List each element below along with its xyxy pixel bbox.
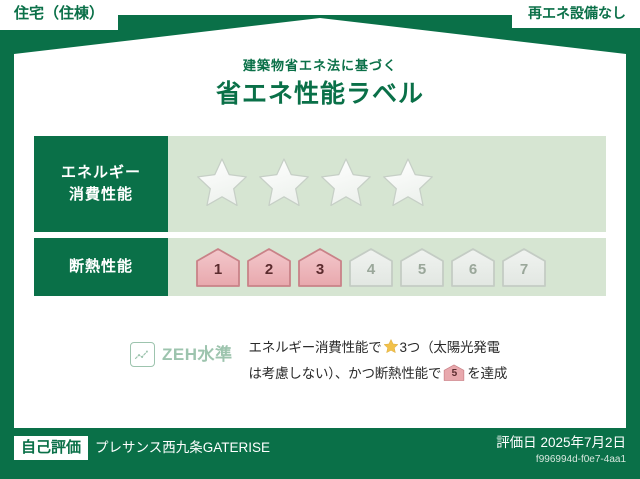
renewable-energy-tab: 再エネ設備なし [512,0,640,28]
zeh-desc-line2-a: は考慮しない）、かつ断熱性能で [249,366,442,381]
renewable-energy-label: 再エネ設備なし [528,6,626,21]
grade-house-number-7: 7 [500,262,548,277]
grade-house-1: 1 [194,246,242,288]
zeh-desc-line2-b: を達成 [467,366,507,381]
star-icon-3 [318,155,374,214]
grade-house-number-2: 2 [245,262,293,277]
row-energy-label-line2: 消費性能 [69,184,133,206]
building-type-label: 住宅（住棟） [14,6,104,23]
footer: 自己評価 プレサンス西九条GATERISE 評価日 2025年7月2日 f996… [0,428,640,479]
evaluation-date: 評価日 2025年7月2日 [496,434,626,452]
row-energy-value [168,136,606,232]
grade-house-number-4: 4 [347,262,395,277]
grade-house-5: 5 [398,246,446,288]
star-icon-1 [194,155,250,214]
zeh-desc-line1-a: エネルギー消費性能で [249,340,382,355]
performance-rows: エネルギー 消費性能 断熱性能 1234567 [34,136,606,296]
page-title: 省エネ性能ラベル [0,79,640,109]
evaluation-id: f996994d-f0e7-4aa1 [496,454,626,466]
zeh-chart-icon [130,342,155,367]
grade-house-number-6: 6 [449,262,497,277]
inline-grade-house-icon: 5 [443,364,465,381]
grade-house-number-5: 5 [398,262,446,277]
star-icon-4 [380,155,436,214]
row-insulation-label-line1: 断熱性能 [69,256,133,278]
grade-house-number-3: 3 [296,262,344,277]
grade-house-number-1: 1 [194,262,242,277]
row-energy-label: エネルギー 消費性能 [34,136,168,232]
row-energy-label-line1: エネルギー [61,162,141,184]
grade-house-2: 2 [245,246,293,288]
row-energy-performance: エネルギー 消費性能 [34,136,606,232]
grade-house-7: 7 [500,246,548,288]
insulation-grade-scale: 1234567 [194,246,548,288]
footer-right: 評価日 2025年7月2日 f996994d-f0e7-4aa1 [496,434,626,466]
footer-left: 自己評価 プレサンス西九条GATERISE [14,436,270,460]
title-subtitle: 建築物省エネ法に基づく [0,58,640,74]
row-insulation-label: 断熱性能 [34,238,168,296]
inline-star-icon [383,338,399,362]
building-type-tab: 住宅（住棟） [0,0,118,30]
grade-house-3: 3 [296,246,344,288]
self-evaluation-badge: 自己評価 [14,436,88,460]
row-insulation-performance: 断熱性能 1234567 [34,238,606,296]
zeh-desc-line1-b: 3つ（太陽光発電 [400,340,500,355]
zeh-badge: ZEH水準 [34,332,233,367]
title-block: 建築物省エネ法に基づく 省エネ性能ラベル [0,58,640,109]
energy-performance-label: 住宅（住棟） 再エネ設備なし 建築物省エネ法に基づく 省エネ性能ラベル エネルギ… [0,0,640,479]
star-icon-2 [256,155,312,214]
inline-grade-house-number: 5 [443,369,465,379]
grade-house-6: 6 [449,246,497,288]
building-name: プレサンス西九条GATERISE [95,440,270,456]
row-insulation-value: 1234567 [168,238,606,296]
zeh-label: ZEH水準 [162,346,233,363]
zeh-description: エネルギー消費性能で3つ（太陽光発電 は考慮しない）、かつ断熱性能で5を達成 [233,332,607,385]
zeh-section: ZEH水準 エネルギー消費性能で3つ（太陽光発電 は考慮しない）、かつ断熱性能で… [34,332,606,385]
grade-house-4: 4 [347,246,395,288]
star-rating [194,155,436,214]
